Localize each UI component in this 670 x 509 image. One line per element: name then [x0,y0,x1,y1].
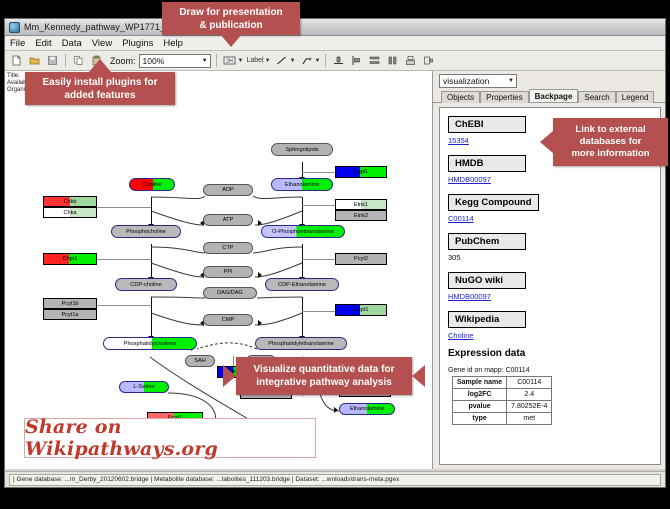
node-cmp[interactable]: CMP [203,314,253,326]
backpage-value-pubchem: 305 [448,253,652,262]
node-chka[interactable]: Chka [43,207,97,218]
svg-text:2H: 2H [226,59,233,65]
backpage-heading-wikipedia: Wikipedia [448,311,526,328]
edge-ophospho-cdpethanolamine [302,244,303,280]
node-label: CDP-Ethanolamine [278,282,326,288]
node-sphingolipids[interactable]: Sphingolipids [271,143,333,156]
edge-phosphocholine-cdpcholine [151,244,152,280]
node-label: Etnk2 [354,213,368,219]
node-label: Phosphocholine [126,229,166,235]
align-top-icon[interactable] [331,53,346,68]
annotation-share-box: Share on Wikipathways.org [24,418,316,458]
annotation-visualize-pointer-left [223,365,236,387]
annotation-plugins-pointer [89,59,111,72]
tab-backpage[interactable]: Backpage [529,89,579,102]
node-label: CTP [222,245,233,251]
node-label: CMP [222,317,234,323]
annotation-link-line2: databases for [580,136,642,148]
backpage-link-wikipedia[interactable]: Choline [448,331,652,340]
menu-item-file[interactable]: File [10,38,25,49]
table-cell-key: type [453,413,507,425]
table-cell-value: met [507,413,552,425]
chevron-down-icon: ▼ [508,78,514,84]
table-cell-key: Sample name [453,377,507,389]
node-chkb[interactable]: Chkb [43,196,97,207]
node-label: Ethanolamine [285,182,319,188]
menu-item-help[interactable]: Help [163,38,183,49]
label-tool-caption: Label [246,57,263,64]
annotation-link-pointer [540,131,553,153]
annotation-plugins-line1: Easily install plugins for [42,76,157,89]
annotation-link-callout: Link to external databases for more info… [553,118,668,166]
annotation-share-text: Share on Wikipathways.org [25,416,315,460]
arrowhead-icon [334,407,338,413]
visualization-value: visualization [443,76,489,86]
annotation-draw-line2: & publication [199,19,262,32]
node-label: Etnk1 [354,202,368,208]
canvas-info-labels: Title: Availab Organi [7,73,27,94]
menu-item-edit[interactable]: Edit [35,38,51,49]
zoom-combo[interactable]: 100% ▼ [139,54,211,68]
table-cell-key: log2FC [453,389,507,401]
edge-chpt1 [95,259,151,260]
new-file-icon[interactable] [9,53,24,68]
node-label: Chpt1 [63,256,78,262]
annotation-visualize-line2: integrative pathway analysis [256,376,392,389]
backpage-heading-pubchem: PubChem [448,233,526,250]
backpage-heading-nugo: NuGO wiki [448,272,526,289]
table-row: log2FC 2.4 [453,389,552,401]
datanode-tool[interactable]: 2H ▼ [222,53,244,68]
node-label: Pcyt1a [61,312,78,318]
node-phosphatidylcholines[interactable]: Phosphatidylcholines [103,337,197,350]
node-cdp-ethanolamine[interactable]: CDP-Ethanolamine [265,278,339,291]
node-label: Phosphatidylcholines [124,341,177,347]
node-pcyt1a[interactable]: Pcyt1a [43,309,97,320]
interaction-icon[interactable] [299,53,314,68]
edge-choline-phosphocholine [151,197,152,227]
node-choline-top[interactable]: Choline [129,178,175,191]
canvas-info-organism: Organi [7,87,27,94]
node-label: Chkb [63,199,76,205]
backpage-link-hmdb[interactable]: HMDB00097 [448,175,652,184]
node-label: Sphingolipids [285,147,318,153]
table-row: Sample name C00114 [453,377,552,389]
bring-to-front-icon[interactable] [403,53,418,68]
zoom-value: 100% [143,56,165,66]
expression-data-title: Expression data [448,348,652,359]
backpage-link-nugo[interactable]: HMDB00097 [448,292,652,301]
table-cell-value: 7.80252E-4 [507,401,552,413]
node-adp[interactable]: ADP [203,184,253,196]
node-chpt1[interactable]: Chpt1 [43,253,97,265]
node-phosphatidylethanolamine[interactable]: Phosphatidylethanolamine [255,337,347,350]
align-left-icon[interactable] [349,53,364,68]
table-row: pvalue 7.80252E-4 [453,401,552,413]
edge-chk-choline [95,207,151,208]
distribute-vertical-icon[interactable] [367,53,382,68]
edge-cept1 [302,311,335,312]
node-label: PPi [224,269,233,275]
zoom-label: Zoom: [110,56,136,66]
edge-etnk [302,205,335,206]
annotation-visualize-pointer-right [412,365,425,387]
chevron-down-icon[interactable]: ▼ [290,58,296,64]
node-label: Ethanolamine [350,406,384,412]
node-ethanolamine-top[interactable]: Ethanolamine [271,178,333,191]
node-o-phosphoethanolamine[interactable]: O-Phosphoethanolamine [261,225,345,238]
label-tool[interactable]: Label ▼ [246,57,270,64]
node-atp[interactable]: ATP [203,214,253,226]
table-cell-key: pvalue [453,401,507,413]
menu-item-plugins[interactable]: Plugins [122,38,153,49]
node-label: Pcyt1b [61,301,78,307]
node-label: L-Serine [133,384,154,390]
toolbar-separator [65,54,66,67]
node-cdp-choline[interactable]: CDP-choline [115,278,177,291]
node-label: Pcyt2 [354,256,368,262]
edge-pcyt1 [95,305,151,306]
send-to-back-icon[interactable] [421,53,436,68]
backpage-link-kegg[interactable]: C00114 [448,214,652,223]
line-tool[interactable]: ▼ [274,53,296,68]
annotation-plugins-callout: Easily install plugins for added feature… [25,72,175,105]
visualization-combo[interactable]: visualization ▼ [439,74,517,88]
node-phosphocholine[interactable]: Phosphocholine [111,225,181,238]
node-l-serine-left[interactable]: L-Serine [119,381,169,393]
node-etnk1[interactable]: Etnk1 [335,199,387,210]
node-etnk2[interactable]: Etnk2 [335,210,387,221]
annotation-link-line1: Link to external [575,124,645,136]
menu-item-view[interactable]: View [92,38,112,49]
node-label: DAG/DAG [217,290,243,296]
node-label: Chka [63,210,76,216]
node-label: ATP [223,217,233,223]
node-pcyt1b[interactable]: Pcyt1b [43,298,97,309]
annotation-visualize-callout: Visualize quantitative data for integrat… [236,357,412,395]
table-row: type met [453,413,552,425]
node-label: ADP [222,187,234,193]
arrowhead-icon [258,272,262,278]
tab-objects[interactable]: Objects [441,91,480,103]
node-label: Cept1 [354,307,369,313]
app-icon [9,22,20,33]
arrowhead-icon [258,220,262,226]
tab-properties[interactable]: Properties [480,91,528,103]
backpage-heading-kegg: Kegg Compound [448,194,539,211]
save-icon[interactable] [45,53,60,68]
annotation-draw-pointer [220,34,242,47]
annotation-draw-line1: Draw for presentation [179,6,282,19]
backpage-heading-hmdb: HMDB [448,155,526,172]
node-label: Phosphatidylethanolamine [268,341,334,347]
edge-sgpl1 [302,172,335,173]
datanode-icon[interactable]: 2H [222,53,237,68]
chevron-down-icon[interactable]: ▼ [315,58,321,64]
annotation-link-line3: more information [571,148,649,160]
tab-legend[interactable]: Legend [616,91,655,103]
tab-search[interactable]: Search [578,91,615,103]
interaction-tool[interactable]: ▼ [299,53,321,68]
same-width-icon[interactable] [385,53,400,68]
open-folder-icon[interactable] [27,53,42,68]
copy-icon[interactable] [71,53,86,68]
node-label: Choline [143,182,162,188]
node-pcyt2[interactable]: Pcyt2 [335,253,387,265]
chevron-down-icon[interactable]: ▼ [238,58,244,64]
node-sgpl1[interactable]: Sgpl1 [335,166,387,178]
toolbar-separator-3 [325,54,326,67]
node-ppi[interactable]: PPi [203,266,253,278]
node-label: O-Phosphoethanolamine [272,229,334,235]
table-cell-value: 2.4 [507,389,552,401]
chevron-down-icon: ▼ [202,58,208,64]
status-text: | Gene database: ...m_Derby_20120602.bri… [9,474,661,486]
menu-bar: File Edit Data View Plugins Help [5,36,665,51]
chevron-down-icon[interactable]: ▼ [265,58,271,64]
node-cept1[interactable]: Cept1 [335,304,387,316]
node-label: SAH [194,358,206,364]
node-ctp[interactable]: CTP [203,242,253,254]
toolbar-separator-2 [216,54,217,67]
screenshot-root: Mm_Kennedy_pathway_WP1771_45176.gpml Fil… [0,0,670,509]
edge-ethanolamine-ophospho [302,197,303,227]
menu-item-data[interactable]: Data [62,38,82,49]
edge-cdpcholine-ptdcholine [151,297,152,339]
node-label: CDP-choline [130,282,161,288]
edge-cdpethanolamine-ptdethanolamine [302,297,303,339]
expression-data-table: Sample name C00114 log2FC 2.4 pvalue 7.8… [452,376,552,425]
title-bar: Mm_Kennedy_pathway_WP1771_45176.gpml [5,19,665,36]
backpage-heading-chebi: ChEBI [448,116,526,133]
line-icon[interactable] [274,53,289,68]
view-select-row: visualization ▼ [433,71,665,89]
side-tabstrip: Objects Properties Backpage Search Legen… [433,89,665,103]
node-ethanolamine-bottom[interactable]: Ethanolamine [339,403,395,415]
node-label: Sgpl1 [354,169,368,175]
annotation-draw-callout: Draw for presentation & publication [162,2,300,35]
status-bar: | Gene database: ...m_Derby_20120602.bri… [5,471,665,487]
pathway-canvas[interactable]: Title: Availab Organi [5,71,433,469]
edge-pcyt2 [302,259,335,260]
annotation-visualize-line1: Visualize quantitative data for [254,363,395,376]
gene-id-on-mapp: Gene id on mapp: C00114 [448,367,652,374]
canvas-info-title: Title: [7,73,27,80]
arrowhead-icon [258,320,262,326]
node-dag[interactable]: DAG/DAG [203,287,257,299]
node-sah[interactable]: SAH [185,355,215,367]
table-cell-value: C00114 [507,377,552,389]
canvas-info-availability: Availab [7,80,27,87]
annotation-plugins-line2: added features [64,89,135,102]
